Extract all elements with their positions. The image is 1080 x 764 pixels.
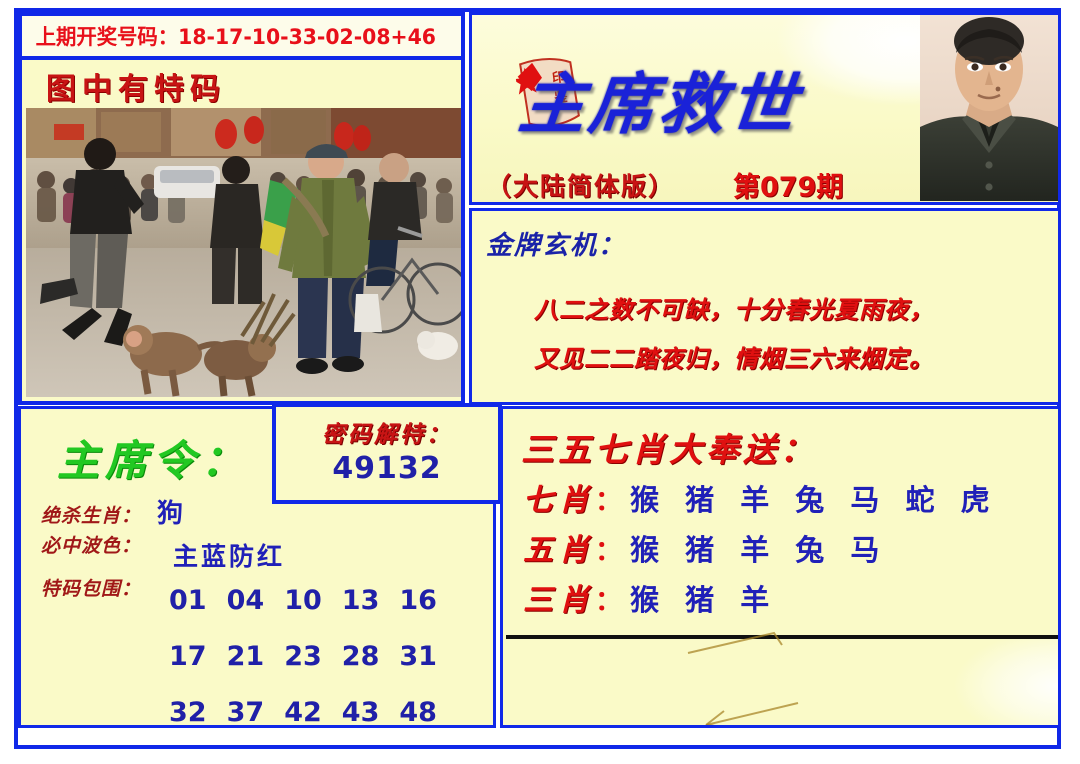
lottery-poster: 上期开奖号码：18-17-10-33-02-08+46 图中有特码 bbox=[0, 0, 1080, 764]
title-panel: 印 鉴 主席救世 bbox=[469, 12, 1061, 205]
zodiac-seven-animals: 猴 猪 羊 兔 马 蛇 虎 bbox=[630, 477, 998, 519]
zodiac-panel: 三五七肖大奉送： 七肖 ： 猴 猪 羊 兔 马 蛇 虎 五肖 ： 猴 猪 羊 兔… bbox=[500, 406, 1061, 728]
photo-caption: 图中有特码 bbox=[46, 64, 226, 108]
street-photo bbox=[26, 108, 461, 397]
zodiac-five-colon: ： bbox=[595, 529, 622, 568]
zodiac-three-animals: 猴 猪 羊 bbox=[630, 577, 777, 619]
scratch-mark-top bbox=[686, 631, 806, 661]
poem-panel: 金牌玄机： 八二之数不可缺，十分春光夏雨夜， 又见二二踏夜归，情烟三六来烟定。 bbox=[469, 208, 1061, 405]
number-cell: 42 bbox=[284, 697, 322, 728]
number-cell: 17 bbox=[169, 641, 207, 672]
title-subline: （大陆简体版） 第079期 bbox=[480, 165, 1040, 204]
poem-line-1: 八二之数不可缺，十分春光夏雨夜， bbox=[534, 290, 934, 325]
number-cell: 31 bbox=[399, 641, 437, 672]
special-range-label: 特码包围： bbox=[41, 574, 141, 601]
order-row-kill-zodiac: 绝杀生肖： 狗 bbox=[41, 493, 183, 530]
number-cell: 01 bbox=[169, 585, 207, 616]
number-row-1: 01 04 10 13 16 bbox=[169, 585, 437, 616]
photo-panel: 图中有特码 bbox=[18, 60, 465, 405]
zodiac-five-label: 五肖 bbox=[523, 525, 595, 569]
zodiac-three-colon: ： bbox=[595, 579, 622, 618]
number-cell: 37 bbox=[227, 697, 265, 728]
zodiac-three-label: 三肖 bbox=[523, 575, 595, 619]
number-cell: 16 bbox=[399, 585, 437, 616]
wave-color-label: 必中波色： bbox=[41, 531, 141, 558]
zodiac-title: 三五七肖大奉送： bbox=[521, 423, 817, 471]
code-panel: 密码解特： 49132 bbox=[272, 403, 502, 504]
main-title: 主席救世 bbox=[515, 51, 805, 147]
code-label: 密码解特： bbox=[276, 415, 498, 449]
zodiac-row-seven: 七肖 ： 猴 猪 羊 兔 马 蛇 虎 bbox=[523, 475, 998, 519]
number-cell: 23 bbox=[284, 641, 322, 672]
poem-label: 金牌玄机： bbox=[486, 225, 626, 262]
issue-number: 第079期 bbox=[733, 165, 843, 204]
number-row-3: 32 37 42 43 48 bbox=[169, 697, 437, 728]
number-cell: 21 bbox=[227, 641, 265, 672]
number-row-2: 17 21 23 28 31 bbox=[169, 641, 437, 672]
number-cell: 10 bbox=[284, 585, 322, 616]
kill-zodiac-label: 绝杀生肖： bbox=[41, 501, 141, 528]
zodiac-row-three: 三肖 ： 猴 猪 羊 bbox=[523, 575, 777, 619]
number-cell: 28 bbox=[342, 641, 380, 672]
code-value: 49132 bbox=[276, 451, 498, 486]
kill-zodiac-value: 狗 bbox=[157, 493, 183, 530]
zodiac-row-five: 五肖 ： 猴 猪 羊 兔 马 bbox=[523, 525, 887, 569]
wave-color-value: 主蓝防红 bbox=[173, 537, 285, 573]
zodiac-seven-label: 七肖 bbox=[523, 475, 595, 519]
number-cell: 32 bbox=[169, 697, 207, 728]
order-title: 主席令： bbox=[57, 427, 249, 488]
poem-line-2: 又见二二踏夜归，情烟三六来烟定。 bbox=[534, 339, 934, 374]
order-row-special-range: 特码包围： bbox=[41, 574, 141, 601]
edition-label: （大陆简体版） bbox=[486, 167, 675, 203]
number-grid: 01 04 10 13 16 17 21 23 28 31 32 37 42 4… bbox=[169, 585, 437, 728]
zodiac-footer-blank bbox=[506, 639, 1058, 725]
number-cell: 43 bbox=[342, 697, 380, 728]
number-cell: 13 bbox=[342, 585, 380, 616]
zodiac-seven-colon: ： bbox=[595, 479, 622, 518]
footer-light-glow bbox=[888, 639, 1058, 725]
last-draw-bar: 上期开奖号码：18-17-10-33-02-08+46 bbox=[18, 12, 465, 60]
scratch-mark-bottom bbox=[702, 697, 902, 728]
number-cell: 48 bbox=[399, 697, 437, 728]
order-row-wave-color: 必中波色： bbox=[41, 531, 141, 558]
last-draw-text: 上期开奖号码：18-17-10-33-02-08+46 bbox=[22, 21, 436, 51]
number-cell: 04 bbox=[227, 585, 265, 616]
zodiac-five-animals: 猴 猪 羊 兔 马 bbox=[630, 527, 887, 569]
